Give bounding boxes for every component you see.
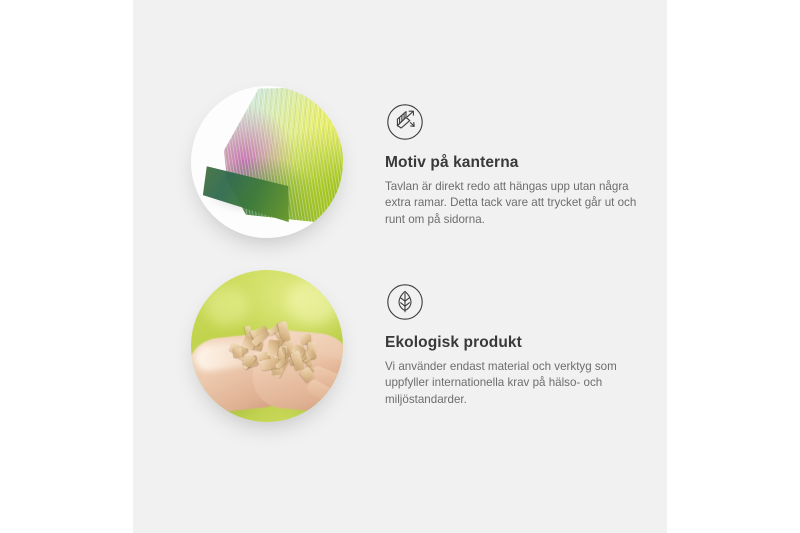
feature-body: Tavlan är direkt redo att hängas upp uta… — [385, 179, 653, 229]
feature-block-eco: Ekologisk produkt Vi använder endast mat… — [133, 250, 667, 440]
feature-text-edges: Motiv på kanterna Tavlan är direkt redo … — [385, 102, 653, 229]
feature-title: Motiv på kanterna — [385, 154, 653, 173]
wood-chips-in-hands-photo — [191, 270, 343, 422]
wood-chip — [233, 347, 242, 357]
feature-text-eco: Ekologisk produkt Vi använder endast mat… — [385, 282, 653, 409]
canvas-photo-background — [191, 86, 343, 238]
canvas-wrapped-edges-icon — [385, 102, 425, 142]
wood-chip-pile — [221, 318, 325, 376]
feature-title: Ekologisk produkt — [385, 334, 653, 353]
canvas-corner-photo — [191, 86, 343, 238]
leaf-icon — [385, 282, 425, 322]
product-feature-banner: Motiv på kanterna Tavlan är direkt redo … — [0, 0, 800, 533]
feature-block-edges: Motiv på kanterna Tavlan är direkt redo … — [133, 70, 667, 260]
wood-chip — [267, 339, 279, 356]
feature-body: Vi använder endast material och verktyg … — [385, 359, 653, 409]
eco-photo-background — [191, 270, 343, 422]
